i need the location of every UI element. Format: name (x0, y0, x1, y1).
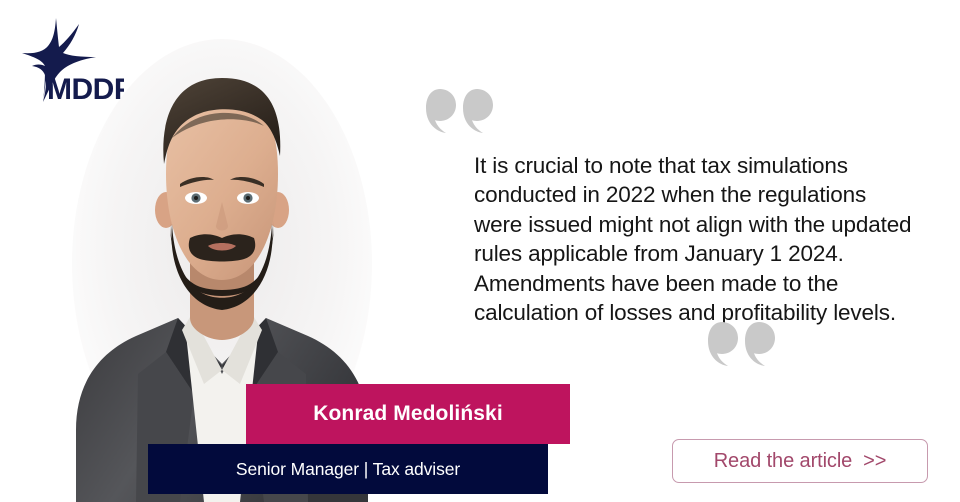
mddp-logo-text: MDDP (47, 73, 124, 106)
person-name-banner: Konrad Medoliński (246, 384, 570, 444)
read-the-article-label: Read the article >> (714, 450, 887, 473)
read-the-article-button[interactable]: Read the article >> (672, 439, 928, 483)
quote-open-icon (424, 88, 498, 134)
promo-banner: MDDP (0, 0, 960, 502)
quote-close-icon (706, 321, 780, 367)
mddp-logo[interactable]: MDDP (12, 12, 124, 110)
mddp-logo-mark: MDDP (12, 12, 124, 110)
person-title-banner: Senior Manager | Tax adviser (148, 444, 548, 494)
person-title: Senior Manager | Tax adviser (236, 459, 460, 480)
person-name: Konrad Medoliński (313, 402, 503, 426)
quote-text: It is crucial to note that tax simulatio… (474, 151, 916, 328)
